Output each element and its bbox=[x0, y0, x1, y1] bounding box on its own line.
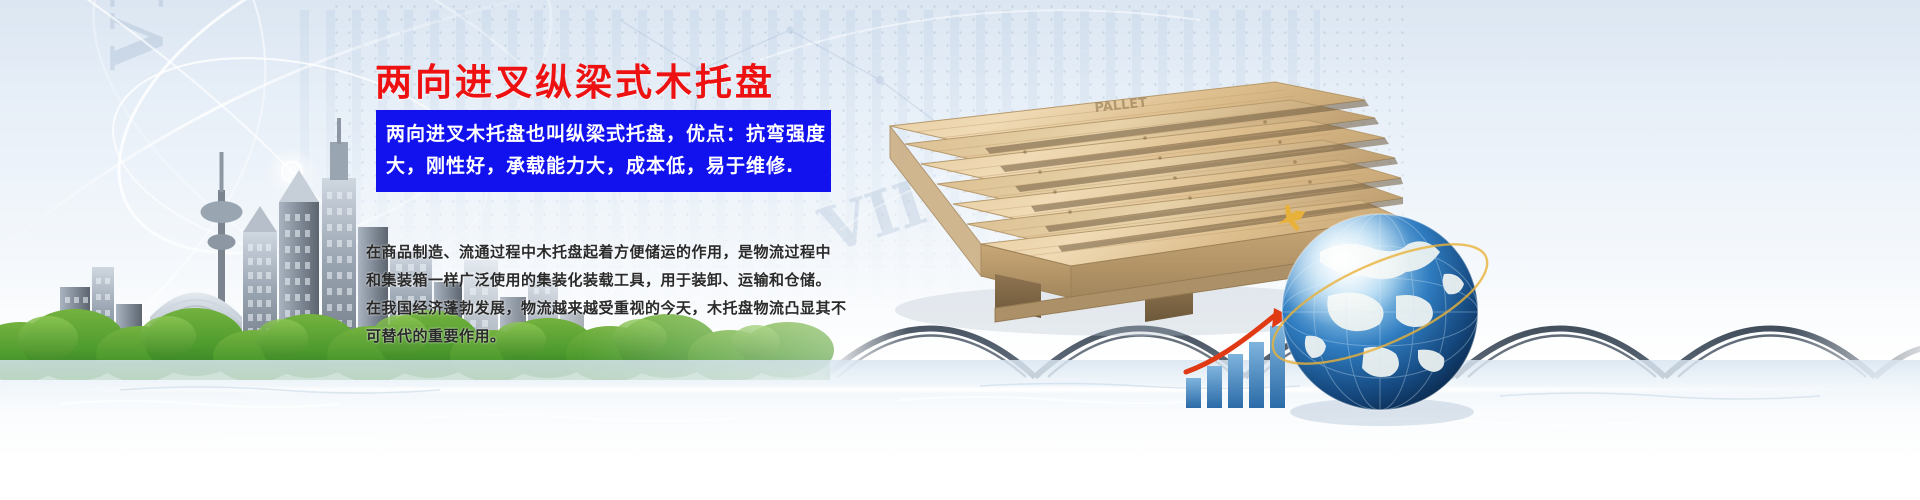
highlight-line-1: 两向进叉木托盘也叫纵梁式托盘，优点：抗弯强度 bbox=[386, 118, 821, 150]
highlight-callout-box: 两向进叉木托盘也叫纵梁式托盘，优点：抗弯强度 大，刚性好，承载能力大，成本低，易… bbox=[376, 110, 831, 192]
paragraph-line-1: 在商品制造、流通过程中木托盘起着方便储运的作用，是物流过程中 bbox=[366, 238, 866, 266]
paragraph-line-4: 可替代的重要作用。 bbox=[366, 322, 866, 350]
paragraph-line-2: 和集装箱一样广泛使用的集装化装载工具，用于装卸、运输和仓储。 bbox=[366, 266, 866, 294]
page-title: 两向进叉纵梁式木托盘 bbox=[375, 52, 775, 106]
description-paragraph: 在商品制造、流通过程中木托盘起着方便储运的作用，是物流过程中 和集装箱一样广泛使… bbox=[366, 238, 866, 350]
highlight-line-2: 大，刚性好，承载能力大，成本低，易于维修. bbox=[386, 150, 821, 182]
paragraph-line-3: 在我国经济蓬勃发展，物流越来越受重视的今天，木托盘物流凸显其不 bbox=[366, 294, 866, 322]
promo-banner: VIII VII VI VII bbox=[0, 0, 1920, 500]
water-ripples bbox=[0, 370, 1920, 500]
globe-graphic bbox=[1268, 200, 1498, 430]
